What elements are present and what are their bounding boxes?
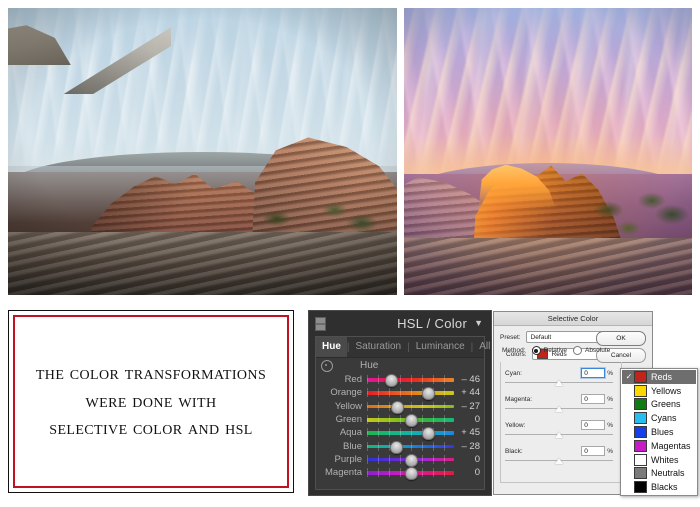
radio-relative[interactable] <box>532 346 541 355</box>
menu-swatch-icon-magentas <box>634 440 647 452</box>
hsl-slider-label-blue: Blue <box>318 441 367 452</box>
ps-slider-handle[interactable] <box>555 406 563 412</box>
ps-slider-value-wrap: 0% <box>581 394 613 404</box>
tab-saturation[interactable]: Saturation <box>350 337 408 357</box>
chevron-down-icon[interactable]: ▼ <box>474 318 483 328</box>
menu-item-label: Greens <box>651 399 681 409</box>
hsl-slider-label-yellow: Yellow <box>318 401 367 412</box>
radio-absolute[interactable] <box>573 346 582 355</box>
ps-slider-black: Black:0% <box>505 446 613 466</box>
hsl-slider-row-green: Green0 <box>316 413 484 426</box>
colors-dropdown-menu[interactable]: ✓RedsYellowsGreensCyansBluesMagentasWhit… <box>620 368 698 496</box>
ps-slider-track[interactable] <box>505 405 613 414</box>
caption-box: The Color transformations were done with… <box>8 310 294 493</box>
menu-swatch-icon-blacks <box>634 481 647 493</box>
hsl-slider-row-yellow: Yellow– 27 <box>316 400 484 413</box>
dialog-title: Selective Color <box>548 314 598 323</box>
ps-input-yellow[interactable]: 0 <box>581 420 605 430</box>
menu-item-cyans[interactable]: Cyans <box>622 411 696 425</box>
check-icon: ✓ <box>624 372 634 381</box>
hsl-slider-ticks <box>367 388 454 397</box>
menu-swatch-icon-reds <box>634 371 647 383</box>
ps-slider-handle[interactable] <box>555 432 563 438</box>
hsl-slider-handle-magenta[interactable] <box>405 467 418 480</box>
menu-item-magentas[interactable]: Magentas <box>622 439 696 453</box>
hsl-slider-track-red[interactable] <box>367 374 454 385</box>
caption-line-3: Selective Color and HSL <box>49 415 252 442</box>
percent-symbol: % <box>607 396 613 403</box>
hsl-section-label: Hue <box>360 360 378 371</box>
menu-item-label: Whites <box>651 455 679 465</box>
hsl-slider-ticks <box>367 402 454 411</box>
hsl-slider-value-orange[interactable]: + 44 <box>454 387 480 398</box>
ps-slider-track[interactable] <box>505 379 613 388</box>
preset-value: Default <box>531 334 552 341</box>
menu-item-blues[interactable]: Blues <box>622 425 696 439</box>
hsl-slider-label-aqua: Aqua <box>318 427 367 438</box>
hsl-color-panel: HSL / Color ▼ Hue | Saturation | Luminan… <box>308 310 492 496</box>
menu-swatch-icon-blues <box>634 426 647 438</box>
ps-slider-track[interactable] <box>505 431 613 440</box>
ps-slider-value-wrap: 0% <box>581 420 613 430</box>
cmyk-slider-group: Cyan:0%Magenta:0%Yellow:0%Black:0% <box>500 362 622 483</box>
menu-item-label: Blacks <box>651 482 678 492</box>
hsl-panel-header: HSL / Color ▼ <box>309 311 491 335</box>
hsl-slider-track-green[interactable] <box>367 414 454 425</box>
ps-slider-label-yellow: Yellow: <box>505 422 525 429</box>
menu-item-label: Reds <box>651 372 672 382</box>
hsl-slider-track-orange[interactable] <box>367 387 454 398</box>
hsl-slider-value-yellow[interactable]: – 27 <box>454 401 480 412</box>
ps-slider-header: Yellow:0% <box>505 420 613 430</box>
preset-label: Preset: <box>500 334 521 341</box>
hsl-slider-track-magenta[interactable] <box>367 467 454 478</box>
caption-line-1: The Color transformations <box>36 360 266 387</box>
ps-slider-value-wrap: 0% <box>581 368 613 378</box>
menu-item-label: Blues <box>651 427 674 437</box>
after-vignette <box>404 8 692 295</box>
menu-swatch-icon-yellows <box>634 385 647 397</box>
dialog-body: Preset: Default ⌄ ⚙ Colors: Reds ⌄ OK Ca… <box>494 326 652 360</box>
percent-symbol: % <box>607 422 613 429</box>
hsl-slider-value-aqua[interactable]: + 45 <box>454 427 480 438</box>
radio-absolute-label: Absolute <box>585 347 610 354</box>
caption-inner-border: The Color transformations were done with… <box>13 315 289 488</box>
ps-slider-header: Magenta:0% <box>505 394 613 404</box>
menu-item-label: Magentas <box>651 441 691 451</box>
hsl-slider-ticks <box>367 375 454 384</box>
menu-swatch-icon-whites <box>634 454 647 466</box>
hsl-slider-handle-green[interactable] <box>405 414 418 427</box>
ps-slider-label-black: Black: <box>505 448 523 455</box>
target-adjustment-icon[interactable] <box>321 360 333 372</box>
menu-item-label: Neutrals <box>651 468 685 478</box>
menu-item-blacks[interactable]: Blacks <box>622 480 696 494</box>
hsl-panel-title: HSL / Color <box>397 316 467 331</box>
hsl-slider-row-red: Red– 46 <box>316 373 484 386</box>
hsl-slider-ticks <box>367 428 454 437</box>
photo-after <box>404 8 692 295</box>
hsl-tab-bar: Hue | Saturation | Luminance | All <box>316 337 484 358</box>
hsl-slider-track-purple[interactable] <box>367 454 454 465</box>
menu-swatch-icon-neutrals <box>634 467 647 479</box>
photo-before <box>8 8 397 295</box>
ps-slider-cyan: Cyan:0% <box>505 368 613 388</box>
hsl-slider-value-green[interactable]: 0 <box>454 414 480 425</box>
menu-item-whites[interactable]: Whites <box>622 453 696 467</box>
hsl-section-header: Hue <box>316 358 484 373</box>
hsl-slider-ticks <box>367 442 454 451</box>
hsl-slider-handle-yellow[interactable] <box>391 401 404 414</box>
menu-item-yellows[interactable]: Yellows <box>622 384 696 398</box>
ps-slider-yellow: Yellow:0% <box>505 420 613 440</box>
menu-item-label: Cyans <box>651 413 677 423</box>
hsl-slider-value-purple[interactable]: 0 <box>454 454 480 465</box>
ps-slider-label-magenta: Magenta: <box>505 396 532 403</box>
ps-slider-label-cyan: Cyan: <box>505 370 522 377</box>
menu-item-reds[interactable]: ✓Reds <box>622 370 696 384</box>
hsl-slider-track-yellow[interactable] <box>367 401 454 412</box>
hsl-slider-handle-orange[interactable] <box>422 387 435 400</box>
hsl-slider-label-green: Green <box>318 414 367 425</box>
ps-slider-value-wrap: 0% <box>581 446 613 456</box>
menu-item-label: Yellows <box>651 386 681 396</box>
hsl-slider-label-red: Red <box>318 374 367 385</box>
before-vignette <box>8 8 397 295</box>
hsl-slider-row-orange: Orange+ 44 <box>316 386 484 399</box>
panel-switch-icon[interactable] <box>315 317 326 331</box>
ps-slider-track[interactable] <box>505 457 613 466</box>
hsl-slider-label-purple: Purple <box>318 454 367 465</box>
dialog-titlebar: Selective Color <box>494 312 652 326</box>
hsl-slider-label-orange: Orange <box>318 387 367 398</box>
menu-swatch-icon-cyans <box>634 412 647 424</box>
hsl-slider-track-aqua[interactable] <box>367 427 454 438</box>
method-label: Method: <box>502 347 526 354</box>
hsl-slider-row-blue: Blue– 28 <box>316 439 484 452</box>
hsl-slider-row-magenta: Magenta0 <box>316 466 484 479</box>
ps-input-magenta[interactable]: 0 <box>581 394 605 404</box>
hsl-slider-track-blue[interactable] <box>367 441 454 452</box>
ok-button[interactable]: OK <box>596 331 646 346</box>
hsl-slider-row-purple: Purple0 <box>316 453 484 466</box>
menu-item-neutrals[interactable]: Neutrals <box>622 467 696 481</box>
hsl-slider-list: Red– 46Orange+ 44Yellow– 27Green0Aqua+ 4… <box>316 373 484 479</box>
ps-slider-handle[interactable] <box>555 458 563 464</box>
ps-slider-handle[interactable] <box>555 380 563 386</box>
menu-item-greens[interactable]: Greens <box>622 398 696 412</box>
hsl-slider-value-red[interactable]: – 46 <box>454 374 480 385</box>
method-row: Method: Relative Absolute <box>502 346 610 355</box>
percent-symbol: % <box>607 370 613 377</box>
caption-line-2: were done with <box>86 388 217 415</box>
tab-luminance[interactable]: Luminance <box>410 337 471 357</box>
ps-slider-magenta: Magenta:0% <box>505 394 613 414</box>
hsl-slider-value-magenta[interactable]: 0 <box>454 467 480 478</box>
hsl-slider-handle-aqua[interactable] <box>422 427 435 440</box>
hsl-panel-body: Hue | Saturation | Luminance | All Hue R… <box>315 336 485 490</box>
ps-input-cyan[interactable]: 0 <box>581 368 605 378</box>
radio-relative-label: Relative <box>544 347 567 354</box>
tab-hue[interactable]: Hue <box>316 337 347 357</box>
hsl-slider-row-aqua: Aqua+ 45 <box>316 426 484 439</box>
percent-symbol: % <box>607 448 613 455</box>
ps-slider-header: Cyan:0% <box>505 368 613 378</box>
hsl-slider-label-magenta: Magenta <box>318 467 367 478</box>
ps-slider-header: Black:0% <box>505 446 613 456</box>
ps-input-black[interactable]: 0 <box>581 446 605 456</box>
screenshot-root: The Color transformations were done with… <box>0 0 700 507</box>
hsl-slider-handle-red[interactable] <box>385 374 398 387</box>
hsl-slider-value-blue[interactable]: – 28 <box>454 441 480 452</box>
hsl-slider-handle-blue[interactable] <box>390 441 403 454</box>
hsl-slider-handle-purple[interactable] <box>405 454 418 467</box>
menu-swatch-icon-greens <box>634 398 647 410</box>
